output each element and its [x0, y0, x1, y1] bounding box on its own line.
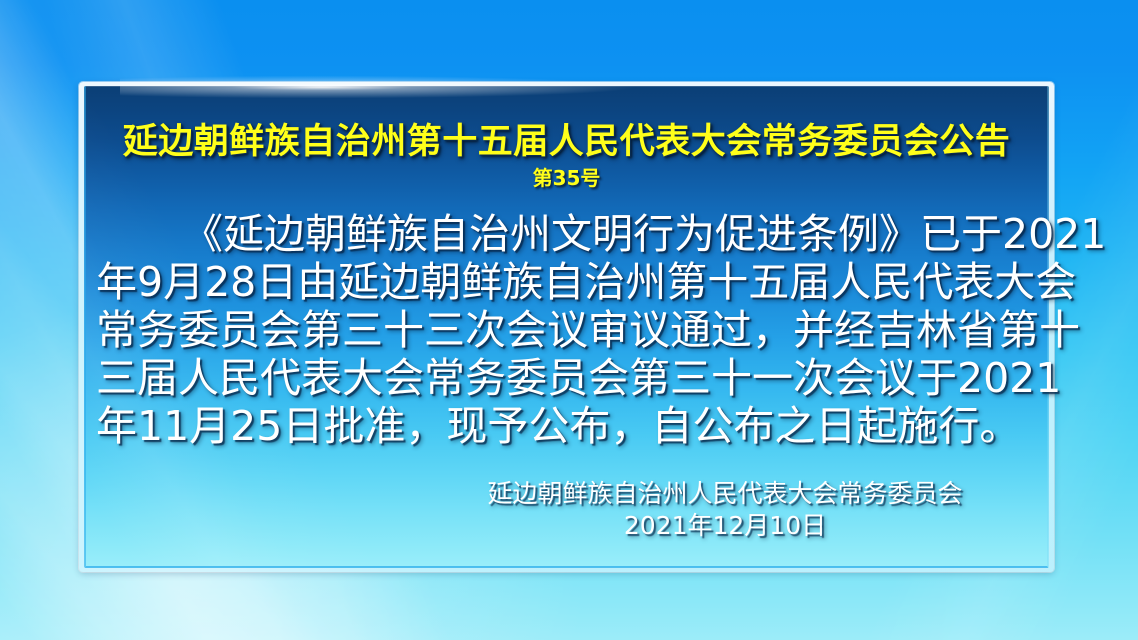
signature-date: 2021年12月10日 [445, 510, 1005, 542]
body-line: 年11月25日批准，现予公布，自公布之日起施行。 [96, 402, 1037, 450]
signature-issuer: 延边朝鲜族自治州人民代表大会常务委员会 [445, 478, 1005, 510]
body-line: 常务委员会第三十三次会议审议通过，并经吉林省第十 [96, 306, 1037, 354]
announcement-content: 延边朝鲜族自治州第十五届人民代表大会常务委员会公告 第35号 《延边朝鲜族自治州… [84, 86, 1049, 568]
announcement-signature: 延边朝鲜族自治州人民代表大会常务委员会 2021年12月10日 [445, 478, 1005, 542]
body-line: 三届人民代表大会常务委员会第三十一次会议于2021 [96, 354, 1037, 402]
body-line: 《延边朝鲜族自治州文明行为促进条例》已于2021 [96, 210, 1037, 258]
announcement-number: 第35号 [84, 162, 1049, 191]
announcement-body: 《延边朝鲜族自治州文明行为促进条例》已于2021 年9月28日由延边朝鲜族自治州… [96, 210, 1037, 450]
broadcast-slide: 延边朝鲜族自治州第十五届人民代表大会常务委员会公告 第35号 《延边朝鲜族自治州… [0, 0, 1138, 640]
body-line: 年9月28日由延边朝鲜族自治州第十五届人民代表大会 [96, 258, 1037, 306]
announcement-title: 延边朝鲜族自治州第十五届人民代表大会常务委员会公告 [84, 113, 1049, 164]
